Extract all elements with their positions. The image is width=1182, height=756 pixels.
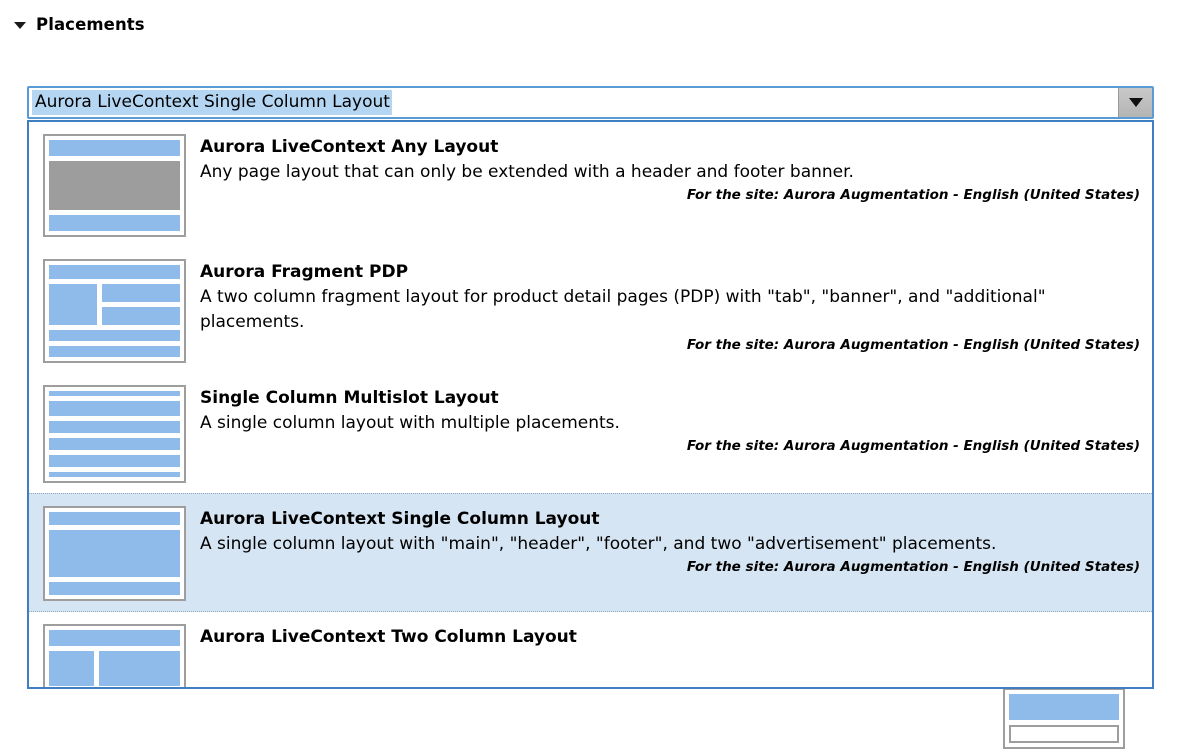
list-item[interactable]: Aurora LiveContext Two Column Layout (29, 612, 1152, 689)
list-item-text: Single Column Multislot Layout A single … (200, 385, 1142, 456)
thumb-block (1009, 694, 1119, 720)
list-item-title: Aurora LiveContext Any Layout (200, 135, 1142, 159)
thumb-slot-5 (49, 472, 180, 477)
list-item-title: Aurora Fragment PDP (200, 260, 1142, 284)
list-item-site: For the site: Aurora Augmentation - Engl… (200, 186, 1142, 205)
list-item-description: A single column layout with "main", "hea… (200, 532, 1142, 557)
layout-thumbnail (43, 506, 186, 601)
thumb-frame (43, 385, 186, 483)
thumb-columns-row (49, 284, 180, 325)
list-item-title: Aurora LiveContext Single Column Layout (200, 507, 1142, 531)
layout-thumbnail (43, 385, 186, 483)
thumb-right-column (102, 284, 180, 325)
layout-dropdown-list[interactable]: Aurora LiveContext Any Layout Any page l… (27, 120, 1154, 689)
thumb-footer-block-1 (49, 330, 180, 341)
layout-thumbnail (43, 134, 186, 237)
list-item-text: Aurora Fragment PDP A two column fragmen… (200, 259, 1142, 355)
thumb-left-column (49, 284, 97, 325)
chevron-down-icon (1129, 98, 1143, 107)
thumb-right-block-top (102, 284, 180, 302)
list-item-text: Aurora LiveContext Single Column Layout … (200, 506, 1142, 577)
list-item-selected[interactable]: Aurora LiveContext Single Column Layout … (29, 493, 1152, 612)
list-item-description: Any page layout that can only be extende… (200, 160, 1142, 185)
chevron-down-icon[interactable] (14, 22, 26, 29)
list-item[interactable]: Single Column Multislot Layout A single … (29, 373, 1152, 493)
list-item-site: For the site: Aurora Augmentation - Engl… (200, 336, 1142, 355)
thumb-footer-block (49, 215, 180, 231)
layout-thumbnail (43, 624, 186, 689)
thumb-body-block (49, 161, 180, 210)
layout-combobox[interactable]: Aurora LiveContext Single Column Layout (27, 86, 1154, 119)
combobox-value: Aurora LiveContext Single Column Layout (32, 90, 392, 115)
thumb-frame (43, 259, 186, 363)
thumb-columns-row (49, 651, 180, 686)
thumb-slot-4 (49, 455, 180, 467)
list-item-description: A single column layout with multiple pla… (200, 411, 1142, 436)
thumb-slot-2 (49, 421, 180, 433)
page-title: Placements (36, 17, 145, 34)
list-item-title: Single Column Multislot Layout (200, 386, 1142, 410)
thumb-slot-3 (49, 438, 180, 450)
thumb-frame (43, 624, 186, 689)
thumb-right-column (99, 651, 180, 686)
thumb-footer-block-2 (49, 346, 180, 357)
layout-thumbnail (43, 259, 186, 363)
list-item-title: Aurora LiveContext Two Column Layout (200, 625, 1142, 649)
thumb-frame (43, 506, 186, 601)
list-item-site: For the site: Aurora Augmentation - Engl… (200, 437, 1142, 456)
thumb-header-block (49, 265, 180, 279)
thumb-right-block-bottom (102, 307, 180, 325)
list-item[interactable]: Aurora Fragment PDP A two column fragmen… (29, 247, 1152, 373)
thumb-header-block (49, 512, 180, 525)
thumb-main-block (49, 530, 180, 577)
thumb-slot-1 (49, 401, 180, 416)
list-item-description: A two column fragment layout for product… (200, 285, 1142, 335)
combobox-dropdown-button[interactable] (1118, 88, 1152, 117)
dropdown-options: Aurora LiveContext Any Layout Any page l… (29, 122, 1152, 689)
combobox-field[interactable]: Aurora LiveContext Single Column Layout (29, 88, 1118, 117)
thumb-header-block (49, 140, 180, 156)
thumb-footer-block (49, 582, 180, 595)
list-item-site: For the site: Aurora Augmentation - Engl… (200, 558, 1142, 577)
list-item-text: Aurora LiveContext Any Layout Any page l… (200, 134, 1142, 205)
list-item[interactable]: Aurora LiveContext Any Layout Any page l… (29, 122, 1152, 247)
thumb-left-column (49, 651, 94, 686)
thumb-frame (43, 134, 186, 237)
thumb-header-block (49, 630, 180, 646)
placements-section-header[interactable]: Placements (14, 14, 145, 36)
background-layout-thumbnail (1003, 688, 1125, 749)
list-item-text: Aurora LiveContext Two Column Layout (200, 624, 1142, 650)
thumb-outline-box (1009, 725, 1119, 743)
